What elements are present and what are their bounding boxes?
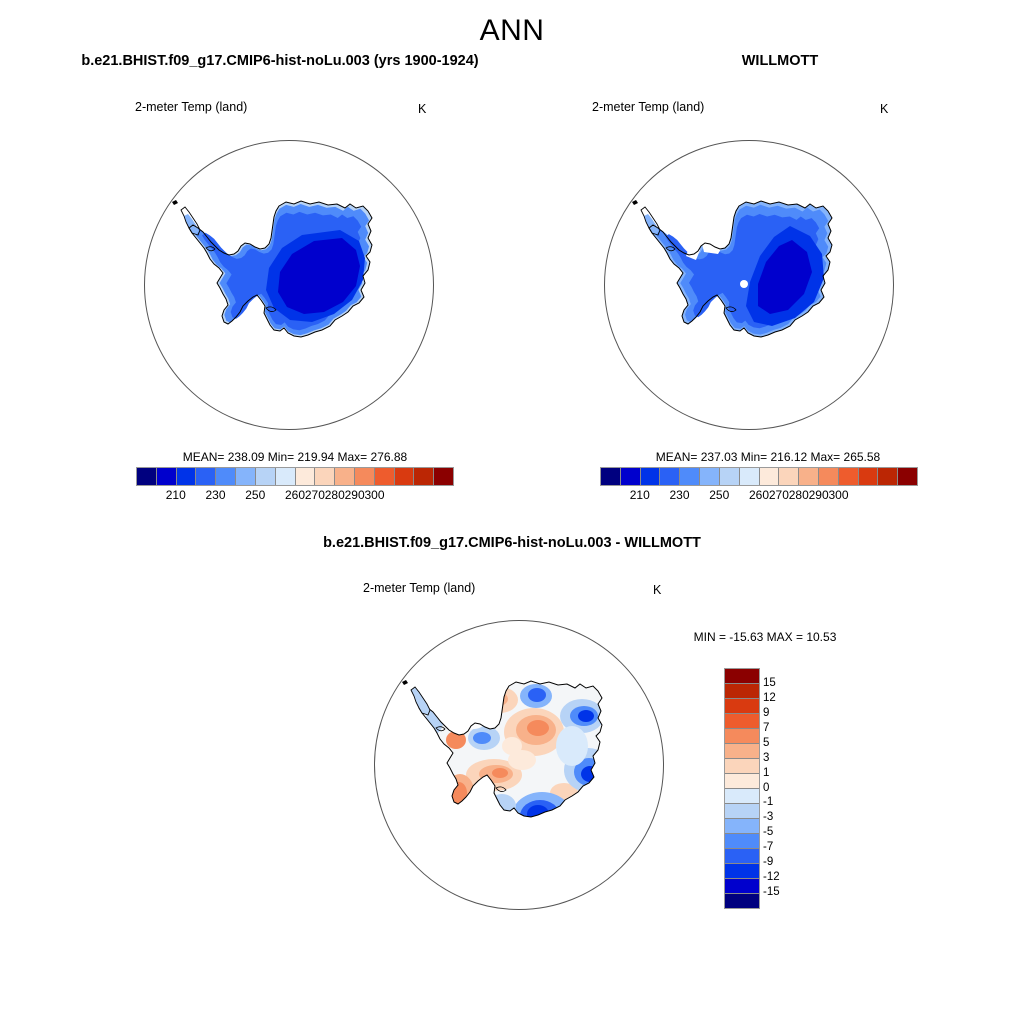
colorbar-ticks-top-right: 210230250260270280290300 xyxy=(600,488,918,504)
small-island xyxy=(172,200,178,205)
unit-label-top-right: K xyxy=(880,102,888,116)
colorbar-tick-label: 7 xyxy=(763,722,769,734)
colorbar-tick-label: 210 xyxy=(630,488,650,502)
colorbar-cell xyxy=(157,468,177,485)
antarctica-plot-top-left xyxy=(144,140,434,430)
colorbar-cell xyxy=(725,774,759,789)
colorbar-tick-label: -9 xyxy=(763,856,773,868)
colorbar-ticks-difference: 1512975310-1-3-5-7-9-12-15 xyxy=(763,668,803,907)
colorbar-cell xyxy=(355,468,375,485)
colorbar-cell xyxy=(137,468,157,485)
unit-label-top-left: K xyxy=(418,102,426,116)
colorbar-cell xyxy=(839,468,859,485)
pole-gap xyxy=(740,280,748,288)
map-top-left[interactable] xyxy=(144,140,434,430)
anomaly-field xyxy=(374,620,664,910)
colorbar-cell xyxy=(601,468,621,485)
colorbar-tick-label: 300 xyxy=(364,488,384,502)
small-island xyxy=(402,680,408,685)
colorbar-tick-label: -15 xyxy=(763,886,780,898)
stats-difference: MIN = -15.63 MAX = 10.53 xyxy=(640,630,890,644)
colorbar-tick-label: 1 xyxy=(763,767,769,779)
colorbar-cell xyxy=(680,468,700,485)
colorbar-cell xyxy=(725,744,759,759)
colorbar-cell xyxy=(621,468,641,485)
colorbar-cell xyxy=(859,468,879,485)
colorbar-cell xyxy=(725,684,759,699)
colorbar-ticks-top-left: 210230250260270280290300 xyxy=(136,488,454,504)
colorbar-tick-label: 270 xyxy=(305,488,325,502)
colorbar-cell xyxy=(395,468,415,485)
map-difference[interactable] xyxy=(374,620,664,910)
variable-label-top-left: 2-meter Temp (land) xyxy=(135,100,247,114)
panel-title-top-left: b.e21.BHIST.f09_g17.CMIP6-hist-noLu.003 … xyxy=(40,53,520,69)
colorbar-cell xyxy=(296,468,316,485)
colorbar-cell xyxy=(878,468,898,485)
colorbar-tick-label: 300 xyxy=(828,488,848,502)
page-title: ANN xyxy=(0,14,1024,48)
colorbar-cell xyxy=(725,804,759,819)
colorbar-tick-label: 270 xyxy=(769,488,789,502)
colorbar-cell xyxy=(335,468,355,485)
map-top-right[interactable] xyxy=(604,140,894,430)
cool-patch-4 xyxy=(512,792,572,840)
colorbar-cell xyxy=(725,699,759,714)
colorbar-tick-label: 210 xyxy=(166,488,186,502)
colorbar-cell xyxy=(760,468,780,485)
colorbar-cell xyxy=(725,669,759,684)
colorbar-tick-label: 280 xyxy=(789,488,809,502)
colorbar-cell xyxy=(779,468,799,485)
neutral-zone-2 xyxy=(502,737,522,755)
colorbar-difference[interactable] xyxy=(724,668,760,909)
colorbar-tick-label: -7 xyxy=(763,841,773,853)
peninsula-coastline xyxy=(411,687,430,715)
warm-patch-2 xyxy=(482,687,518,713)
colorbar-cell xyxy=(725,894,759,908)
colorbar-tick-label: -3 xyxy=(763,811,773,823)
colorbar-cell xyxy=(725,789,759,804)
colorbar-cell xyxy=(315,468,335,485)
colorbar-cell xyxy=(375,468,395,485)
colorbar-cell xyxy=(740,468,760,485)
colorbar-cell xyxy=(276,468,296,485)
antarctica-plot-top-right xyxy=(604,140,894,430)
stats-top-right: MEAN= 237.03 Min= 216.12 Max= 265.58 xyxy=(608,450,928,464)
panel-title-difference: b.e21.BHIST.f09_g17.CMIP6-hist-noLu.003 … xyxy=(180,535,844,551)
colorbar-tick-label: 15 xyxy=(763,677,776,689)
colorbar-tick-label: 230 xyxy=(205,488,225,502)
colorbar-cell xyxy=(819,468,839,485)
small-island xyxy=(632,200,638,205)
cool-patch-3-peak xyxy=(581,766,599,782)
colorbar-cell xyxy=(660,468,680,485)
colorbar-cell xyxy=(256,468,276,485)
colorbar-tick-label: 250 xyxy=(709,488,729,502)
colorbar-tick-label: -1 xyxy=(763,796,773,808)
colorbar-cell xyxy=(196,468,216,485)
colorbar-cell xyxy=(720,468,740,485)
colorbar-cell xyxy=(177,468,197,485)
warm-patch-1-peak xyxy=(527,720,549,736)
temp-band-group-top-left xyxy=(189,201,372,337)
temp-band-group-top-right xyxy=(649,201,832,337)
colorbar-cell xyxy=(725,834,759,849)
cool-patch-2-peak xyxy=(578,710,594,722)
panel-title-top-right: WILLMOTT xyxy=(560,53,1000,69)
colorbar-top-right[interactable] xyxy=(600,467,918,486)
colorbar-cell xyxy=(799,468,819,485)
colorbar-tick-label: -5 xyxy=(763,826,773,838)
colorbar-cell xyxy=(725,714,759,729)
cool-patch-5-core xyxy=(473,732,491,744)
colorbar-cell xyxy=(725,759,759,774)
colorbar-cell xyxy=(725,879,759,894)
colorbar-tick-label: 0 xyxy=(763,782,769,794)
colorbar-cell xyxy=(236,468,256,485)
colorbar-cell xyxy=(725,819,759,834)
colorbar-tick-label: 3 xyxy=(763,752,769,764)
colorbar-tick-label: 5 xyxy=(763,737,769,749)
colorbar-cell xyxy=(725,849,759,864)
colorbar-cell xyxy=(414,468,434,485)
colorbar-tick-label: -12 xyxy=(763,871,780,883)
antarctica-plot-difference xyxy=(374,620,664,910)
cool-patch-4-peak xyxy=(527,805,549,823)
colorbar-tick-label: 250 xyxy=(245,488,265,502)
colorbar-cell xyxy=(641,468,661,485)
colorbar-tick-label: 260 xyxy=(749,488,769,502)
colorbar-cell xyxy=(725,864,759,879)
colorbar-cell xyxy=(216,468,236,485)
variable-label-difference: 2-meter Temp (land) xyxy=(363,581,475,595)
cool-patch-1-core xyxy=(528,688,546,702)
colorbar-cell xyxy=(725,729,759,744)
stats-top-left: MEAN= 238.09 Min= 219.94 Max= 276.88 xyxy=(135,450,455,464)
colorbar-tick-label: 230 xyxy=(669,488,689,502)
cool-patch-7 xyxy=(488,794,516,818)
colorbar-tick-label: 260 xyxy=(285,488,305,502)
colorbar-tick-label: 290 xyxy=(809,488,829,502)
warm-patch-3-peak xyxy=(492,768,508,778)
colorbar-cell xyxy=(700,468,720,485)
colorbar-tick-label: 290 xyxy=(345,488,365,502)
colorbar-top-left[interactable] xyxy=(136,467,454,486)
colorbar-tick-label: 280 xyxy=(325,488,345,502)
variable-label-top-right: 2-meter Temp (land) xyxy=(592,100,704,114)
colorbar-cell xyxy=(434,468,453,485)
colorbar-cell xyxy=(898,468,917,485)
cool-patch-6 xyxy=(556,726,588,766)
colorbar-tick-label: 12 xyxy=(763,692,776,704)
colorbar-tick-label: 9 xyxy=(763,707,769,719)
unit-label-difference: K xyxy=(653,583,661,597)
